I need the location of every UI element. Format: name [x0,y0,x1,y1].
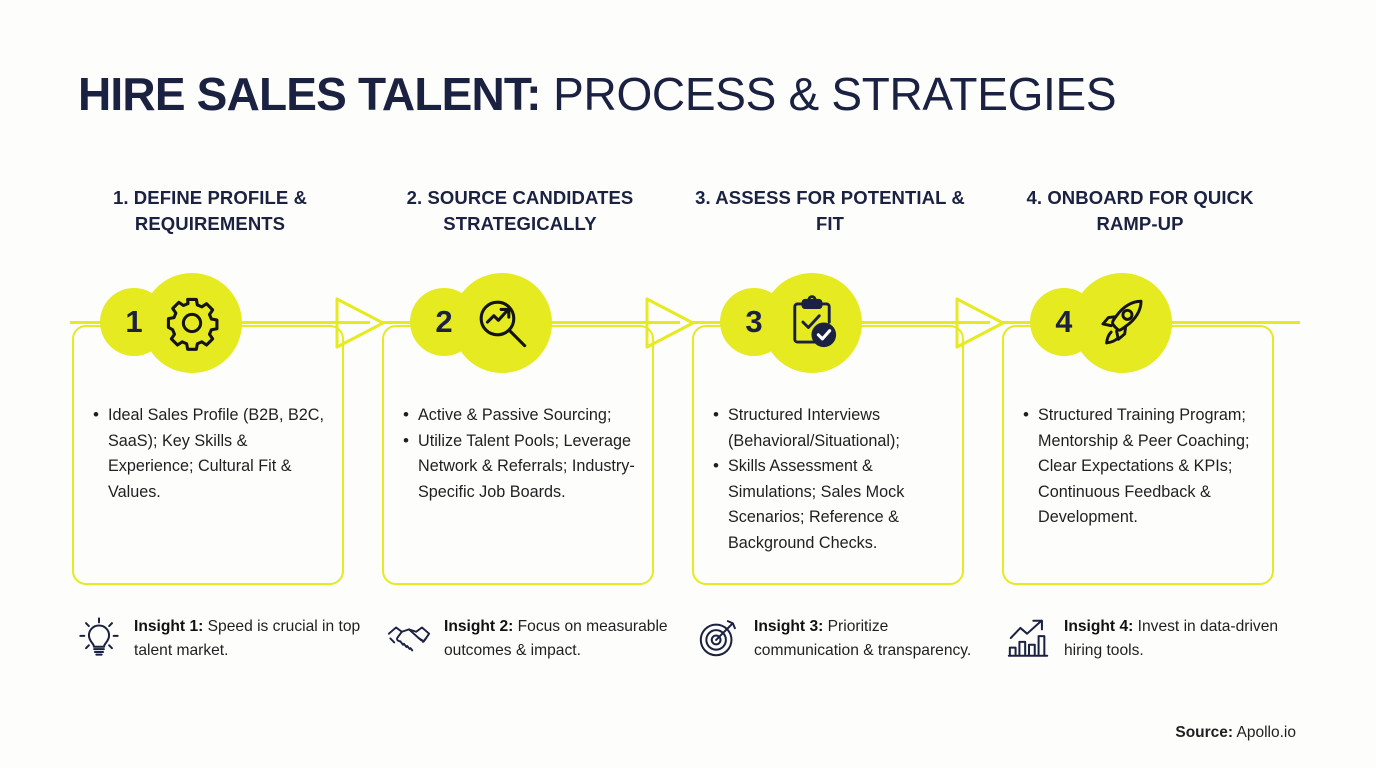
source-credit: Source: Apollo.io [1175,724,1296,742]
list-item: Active & Passive Sourcing; [418,403,642,429]
insight-text-3: Insight 3: Prioritize communication & tr… [754,613,996,663]
step-heading-1: 1. DEFINE PROFILE & REQUIREMENTS [70,185,350,237]
bar-chart-growth-icon [1006,615,1052,661]
lightbulb-icon [76,615,122,661]
list-item: Structured Interviews (Behavioral/Situat… [728,403,952,454]
step-bullets-1: Ideal Sales Profile (B2B, B2C, SaaS); Ke… [90,403,332,505]
page-title-strong: HIRE SALES TALENT: [78,68,541,120]
insight-label-4: Insight 4: [1064,618,1133,635]
insight-3: Insight 3: Prioritize communication & tr… [696,613,996,663]
clipboard-check-icon [783,294,841,352]
step-column-3: 3. ASSESS FOR POTENTIAL & FIT Structured… [690,185,1000,705]
step-column-4: 4. ONBOARD FOR QUICK RAMP-UP Structured … [1000,185,1310,705]
target-arrow-icon [696,615,742,661]
magnifier-trend-icon [473,294,531,352]
source-value: Apollo.io [1233,724,1296,741]
insight-label-3: Insight 3: [754,618,823,635]
source-label: Source: [1175,724,1233,741]
step-bullets-4: Structured Training Program; Mentorship … [1020,403,1262,531]
step-column-1: 1. DEFINE PROFILE & REQUIREMENTS Ideal S… [70,185,380,705]
list-item: Utilize Talent Pools; Leverage Network &… [418,429,642,506]
step-icon-circle-2 [452,273,552,373]
insight-text-2: Insight 2: Focus on measurable outcomes … [444,613,686,663]
step-bullets-2: Active & Passive Sourcing; Utilize Talen… [400,403,642,505]
page-title-light: PROCESS & STRATEGIES [541,68,1117,120]
rocket-icon [1093,294,1151,352]
steps-row: 1. DEFINE PROFILE & REQUIREMENTS Ideal S… [70,185,1310,705]
step-heading-2: 2. SOURCE CANDIDATES STRATEGICALLY [380,185,660,237]
insight-label-1: Insight 1: [134,618,203,635]
list-item: Skills Assessment & Simulations; Sales M… [728,454,952,556]
insight-text-4: Insight 4: Invest in data-driven hiring … [1064,613,1306,663]
page-title: HIRE SALES TALENT: PROCESS & STRATEGIES [78,66,1298,122]
infographic-page: HIRE SALES TALENT: PROCESS & STRATEGIES … [0,0,1376,768]
insight-label-2: Insight 2: [444,618,513,635]
step-heading-4: 4. ONBOARD FOR QUICK RAMP-UP [1000,185,1280,237]
step-icon-circle-4 [1072,273,1172,373]
list-item: Ideal Sales Profile (B2B, B2C, SaaS); Ke… [108,403,332,505]
step-arrow-3 [953,293,1009,353]
insight-1: Insight 1: Speed is crucial in top talen… [76,613,376,663]
step-arrow-2 [643,293,699,353]
handshake-icon [386,615,432,661]
insight-4: Insight 4: Invest in data-driven hiring … [1006,613,1306,663]
insight-text-1: Insight 1: Speed is crucial in top talen… [134,613,376,663]
step-icon-circle-3 [762,273,862,373]
step-column-2: 2. SOURCE CANDIDATES STRATEGICALLY Activ… [380,185,690,705]
step-heading-3: 3. ASSESS FOR POTENTIAL & FIT [690,185,970,237]
insight-2: Insight 2: Focus on measurable outcomes … [386,613,686,663]
gear-icon [163,294,221,352]
step-arrow-1 [333,293,389,353]
list-item: Structured Training Program; Mentorship … [1038,403,1262,531]
step-icon-circle-1 [142,273,242,373]
step-bullets-3: Structured Interviews (Behavioral/Situat… [710,403,952,556]
